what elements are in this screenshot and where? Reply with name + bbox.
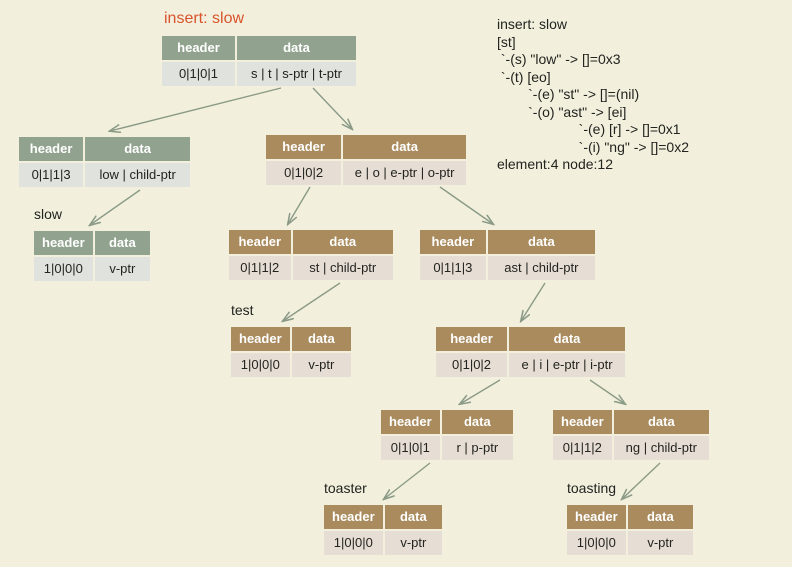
- column-header-header: header: [553, 410, 612, 434]
- node-data-value: low | child-ptr: [85, 163, 190, 187]
- node-header-value: 0|1|1|3: [420, 256, 486, 280]
- node-data-value: r | p-ptr: [442, 436, 513, 460]
- column-header-data: data: [85, 137, 190, 161]
- node-test: headerdata1|0|0|0v-ptr: [229, 325, 353, 379]
- node-toaster: headerdata1|0|0|0v-ptr: [322, 503, 444, 557]
- node-data-value: v-ptr: [292, 353, 351, 377]
- node-header-row: headerdata: [19, 137, 190, 161]
- node-header-value: 0|1|1|3: [19, 163, 83, 187]
- node-header-row: headerdata: [553, 410, 709, 434]
- node-value-row: 0|1|0|1s | t | s-ptr | t-ptr: [162, 62, 356, 86]
- arrow-st-to-test: [283, 283, 340, 321]
- node-ng: headerdata0|1|1|2ng | child-ptr: [551, 408, 711, 462]
- node-header-value: 1|0|0|0: [34, 257, 93, 281]
- column-header-data: data: [293, 230, 393, 254]
- node-header-value: 1|0|0|0: [567, 531, 626, 555]
- insert-trace-text: insert: slow [st] `-(s) "low" -> []=0x3 …: [497, 16, 689, 174]
- node-data-value: ng | child-ptr: [614, 436, 709, 460]
- column-header-data: data: [292, 327, 351, 351]
- column-header-header: header: [436, 327, 507, 351]
- node-value-row: 1|0|0|0v-ptr: [567, 531, 693, 555]
- arrow-eo-to-ast: [440, 187, 493, 224]
- node-low: headerdata0|1|1|3low | child-ptr: [17, 135, 192, 189]
- node-label-toasting: toasting: [567, 480, 616, 496]
- column-header-data: data: [628, 505, 693, 529]
- column-header-data: data: [95, 231, 150, 255]
- node-root: headerdata0|1|0|1s | t | s-ptr | t-ptr: [160, 34, 358, 88]
- column-header-header: header: [567, 505, 626, 529]
- node-st: headerdata0|1|1|2st | child-ptr: [227, 228, 395, 282]
- node-data-value: s | t | s-ptr | t-ptr: [237, 62, 356, 86]
- node-header-value: 0|1|0|2: [436, 353, 507, 377]
- node-header-value: 1|0|0|0: [231, 353, 290, 377]
- arrow-ei-to-ng: [590, 380, 625, 404]
- node-header-value: 0|1|1|2: [553, 436, 612, 460]
- node-value-row: 0|1|0|2e | o | e-ptr | o-ptr: [266, 161, 466, 185]
- node-header-row: headerdata: [229, 230, 393, 254]
- node-label-toaster: toaster: [324, 480, 367, 496]
- arrow-ast-to-ei: [521, 283, 545, 321]
- node-label-slow: slow: [34, 206, 62, 222]
- arrow-ng-to-toasting: [622, 463, 660, 499]
- node-value-row: 1|0|0|0v-ptr: [324, 531, 442, 555]
- node-header-row: headerdata: [567, 505, 693, 529]
- node-value-row: 1|0|0|0v-ptr: [34, 257, 150, 281]
- node-r: headerdata0|1|0|1r | p-ptr: [379, 408, 515, 462]
- node-header-row: headerdata: [162, 36, 356, 60]
- node-header-row: headerdata: [381, 410, 513, 434]
- column-header-header: header: [231, 327, 290, 351]
- node-header-row: headerdata: [266, 135, 466, 159]
- column-header-data: data: [442, 410, 513, 434]
- node-value-row: 0|1|0|1r | p-ptr: [381, 436, 513, 460]
- node-value-row: 0|1|1|3ast | child-ptr: [420, 256, 595, 280]
- node-header-value: 0|1|0|1: [162, 62, 235, 86]
- diagram-title: insert: slow: [164, 10, 244, 28]
- arrow-root-to-low: [110, 88, 281, 131]
- node-data-value: e | i | e-ptr | i-ptr: [509, 353, 625, 377]
- column-header-data: data: [614, 410, 709, 434]
- node-header-value: 0|1|1|2: [229, 256, 291, 280]
- column-header-header: header: [229, 230, 291, 254]
- node-value-row: 0|1|1|2ng | child-ptr: [553, 436, 709, 460]
- node-header-row: headerdata: [324, 505, 442, 529]
- column-header-data: data: [509, 327, 625, 351]
- column-header-data: data: [237, 36, 356, 60]
- diagram-canvas: insert: slow headerdata0|1|0|1s | t | s-…: [0, 0, 792, 567]
- node-label-test: test: [231, 302, 254, 318]
- arrow-r-to-toaster: [384, 463, 430, 499]
- node-data-value: v-ptr: [385, 531, 442, 555]
- node-data-value: v-ptr: [628, 531, 693, 555]
- column-header-data: data: [385, 505, 442, 529]
- column-header-header: header: [381, 410, 440, 434]
- node-header-value: 0|1|0|1: [381, 436, 440, 460]
- node-value-row: 0|1|1|2st | child-ptr: [229, 256, 393, 280]
- node-value-row: 1|0|0|0v-ptr: [231, 353, 351, 377]
- column-header-header: header: [162, 36, 235, 60]
- node-ast: headerdata0|1|1|3ast | child-ptr: [418, 228, 597, 282]
- node-data-value: st | child-ptr: [293, 256, 393, 280]
- column-header-data: data: [343, 135, 466, 159]
- node-ei: headerdata0|1|0|2e | i | e-ptr | i-ptr: [434, 325, 627, 379]
- node-data-value: ast | child-ptr: [488, 256, 595, 280]
- node-slow: headerdata1|0|0|0v-ptr: [32, 229, 152, 283]
- node-header-row: headerdata: [420, 230, 595, 254]
- column-header-header: header: [324, 505, 383, 529]
- column-header-header: header: [19, 137, 83, 161]
- node-header-row: headerdata: [436, 327, 625, 351]
- node-toasting: headerdata1|0|0|0v-ptr: [565, 503, 695, 557]
- arrow-ei-to-r: [460, 380, 500, 404]
- node-value-row: 0|1|1|3low | child-ptr: [19, 163, 190, 187]
- arrow-eo-to-st: [288, 187, 310, 224]
- column-header-data: data: [488, 230, 595, 254]
- node-header-row: headerdata: [34, 231, 150, 255]
- node-data-value: e | o | e-ptr | o-ptr: [343, 161, 466, 185]
- column-header-header: header: [266, 135, 341, 159]
- arrow-low-to-slow: [90, 190, 140, 225]
- node-header-row: headerdata: [231, 327, 351, 351]
- node-eo: headerdata0|1|0|2e | o | e-ptr | o-ptr: [264, 133, 468, 187]
- node-header-value: 0|1|0|2: [266, 161, 341, 185]
- node-value-row: 0|1|0|2e | i | e-ptr | i-ptr: [436, 353, 625, 377]
- column-header-header: header: [34, 231, 93, 255]
- column-header-header: header: [420, 230, 486, 254]
- node-data-value: v-ptr: [95, 257, 150, 281]
- arrow-root-to-eo: [313, 88, 352, 129]
- node-header-value: 1|0|0|0: [324, 531, 383, 555]
